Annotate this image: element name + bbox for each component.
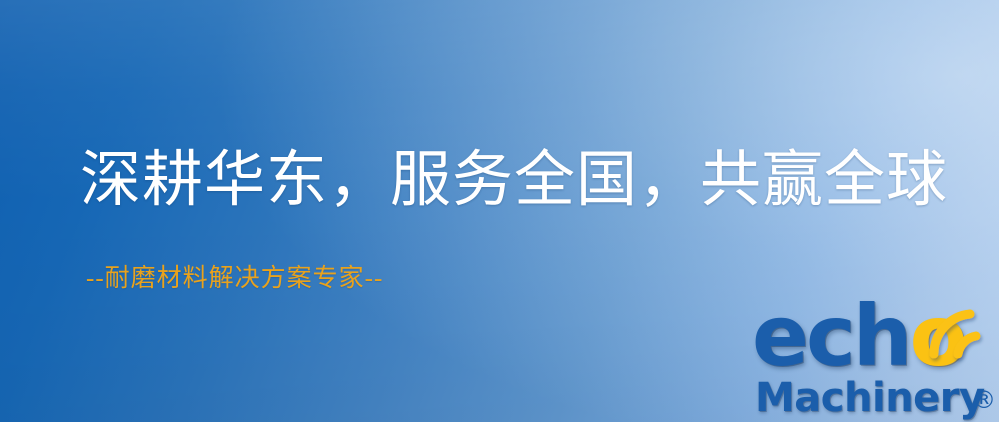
signal-waves-icon: [926, 292, 998, 358]
logo-wordmark-prefix: ech: [752, 287, 910, 385]
logo-subword: Machinery: [755, 378, 985, 418]
promo-banner: 深耕华东，服务全国，共赢全球 --耐磨材料解决方案专家-- echo: [0, 0, 999, 422]
company-logo[interactable]: echo Machinery ®: [748, 296, 996, 422]
logo-mark: echo Machinery ®: [748, 296, 996, 422]
banner-headline: 深耕华东，服务全国，共赢全球: [80, 150, 948, 211]
registered-trademark-icon: ®: [972, 388, 996, 412]
banner-subheadline: --耐磨材料解决方案专家--: [86, 266, 383, 291]
